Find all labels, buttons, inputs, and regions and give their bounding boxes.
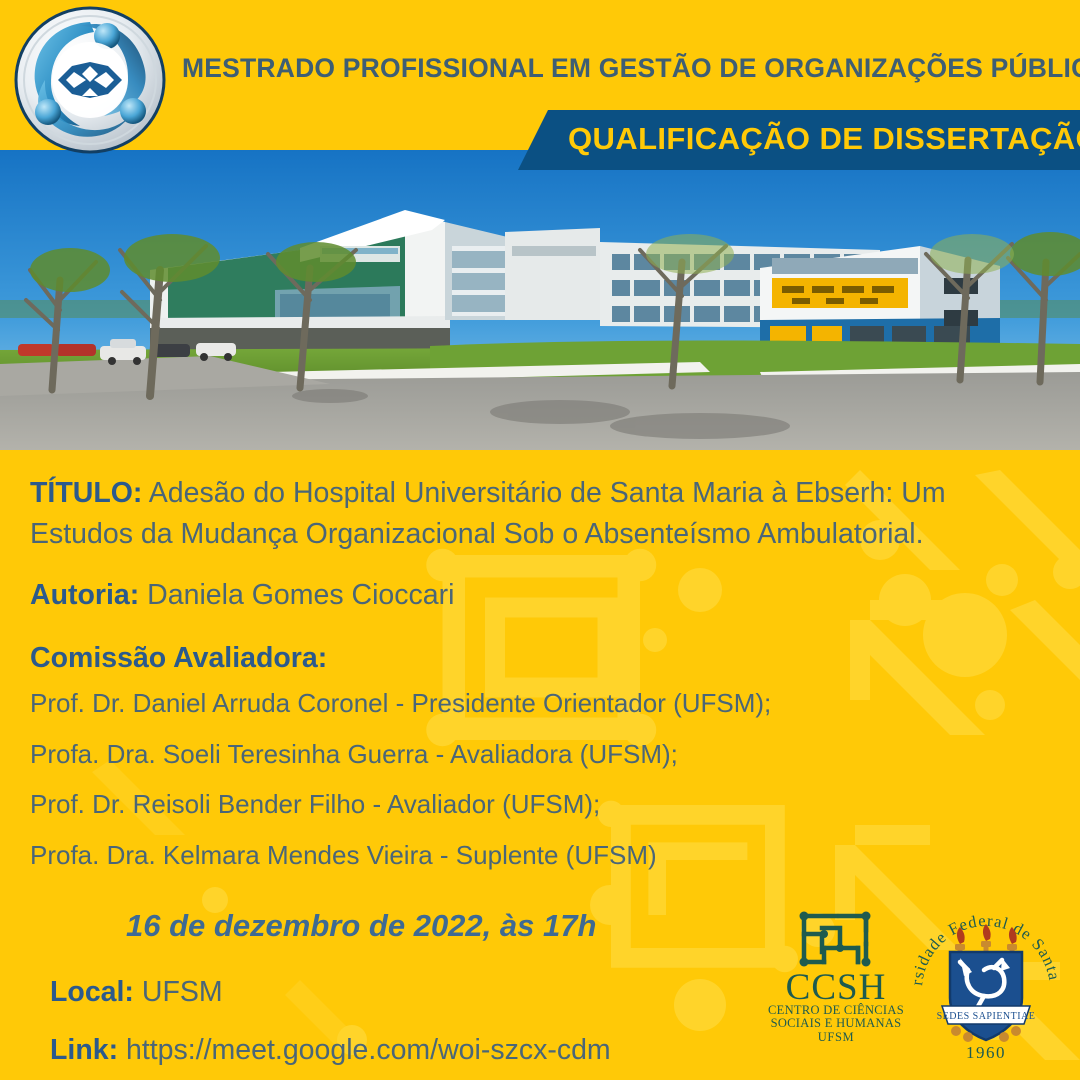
list-item: Profa. Dra. Soeli Teresinha Guerra - Ava…	[30, 741, 1050, 767]
autoria-value: Daniela Gomes Cioccari	[147, 579, 454, 611]
ccsh-line2: SOCIAIS E HUMANAS	[771, 1016, 902, 1030]
list-item: Prof. Dr. Reisoli Bender Filho - Avaliad…	[30, 791, 1050, 817]
banner-qualificacao: QUALIFICAÇÃO DE DISSERTAÇÃO	[508, 110, 1080, 170]
ufsm-seal: Universidade Federal de Santa Maria	[898, 898, 1074, 1074]
poster: MESTRADO PROFISSIONAL EM GESTÃO DE ORGAN…	[0, 0, 1080, 1080]
comissao-label: Comissão Avaliadora:	[30, 642, 327, 675]
titulo-value: Adesão do Hospital Universitário de Sant…	[30, 477, 946, 550]
comissao-list: Prof. Dr. Daniel Arruda Coronel - Presid…	[30, 690, 1050, 892]
ccsh-line3: UFSM	[818, 1030, 854, 1044]
program-logo-icon	[12, 4, 168, 156]
local-row: Local: UFSM	[50, 976, 223, 1009]
list-item: Profa. Dra. Kelmara Mendes Vieira - Supl…	[30, 842, 1050, 868]
ccsh-line1: CENTRO DE CIÊNCIAS	[768, 1003, 904, 1017]
ccsh-logo: CCSH CENTRO DE CIÊNCIAS SOCIAIS E HUMANA…	[766, 904, 906, 1044]
event-datetime: 16 de dezembro de 2022, às 17h	[126, 908, 596, 944]
ccsh-maze-icon	[804, 916, 866, 962]
titulo-row: TÍTULO: Adesão do Hospital Universitário…	[30, 473, 1050, 556]
local-label: Local:	[50, 976, 134, 1008]
autoria-row: Autoria: Daniela Gomes Cioccari	[30, 577, 454, 614]
link-row: Link: https://meet.google.com/woi-szcx-c…	[50, 1034, 611, 1067]
local-value: UFSM	[142, 976, 223, 1008]
banner-label: QUALIFICAÇÃO DE DISSERTAÇÃO	[568, 121, 1080, 157]
list-item: Prof. Dr. Daniel Arruda Coronel - Presid…	[30, 690, 1050, 716]
page-title: MESTRADO PROFISSIONAL EM GESTÃO DE ORGAN…	[182, 54, 1066, 83]
ufsm-year: 1960	[966, 1043, 1006, 1062]
meeting-link[interactable]: https://meet.google.com/woi-szcx-cdm	[126, 1034, 611, 1066]
campus-photo	[0, 150, 1080, 450]
ufsm-motto: SEDES SAPIENTIAE	[937, 1011, 1036, 1022]
ccsh-acronym: CCSH	[786, 967, 887, 1008]
titulo-label: TÍTULO:	[30, 477, 142, 509]
link-label: Link:	[50, 1034, 118, 1066]
autoria-label: Autoria:	[30, 579, 139, 611]
